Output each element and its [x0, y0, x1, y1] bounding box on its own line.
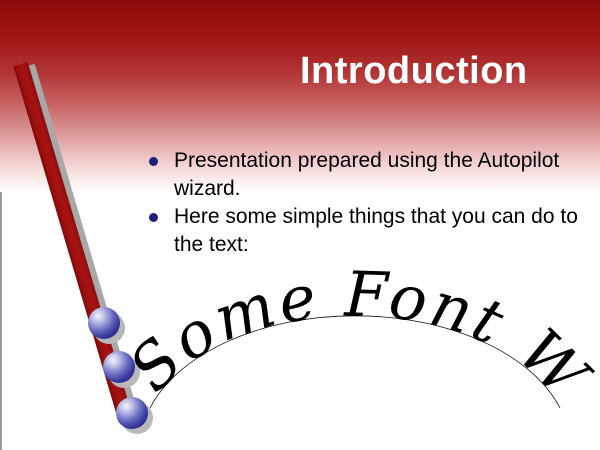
fontwork-svg: Some Font Work	[140, 258, 570, 418]
bullet-list-item: Presentation prepared using the Autopilo…	[143, 147, 593, 203]
slide-left-edge-line	[0, 192, 2, 450]
bullet-dot-icon	[149, 213, 158, 222]
sphere-icon	[88, 307, 120, 339]
bullet-item-text: Here some simple things that you can do …	[174, 203, 593, 259]
bullet-item-text: Presentation prepared using the Autopilo…	[174, 147, 593, 203]
slide-title: Introduction	[300, 49, 580, 93]
slide-bullet-list: Presentation prepared using the Autopilo…	[143, 147, 593, 259]
bullet-list-item: Here some simple things that you can do …	[143, 203, 593, 259]
bullet-dot-icon	[149, 157, 158, 166]
fontwork-artwork: Some Font Work	[140, 258, 570, 418]
presentation-slide: Introduction Presentation prepared using…	[0, 0, 600, 450]
